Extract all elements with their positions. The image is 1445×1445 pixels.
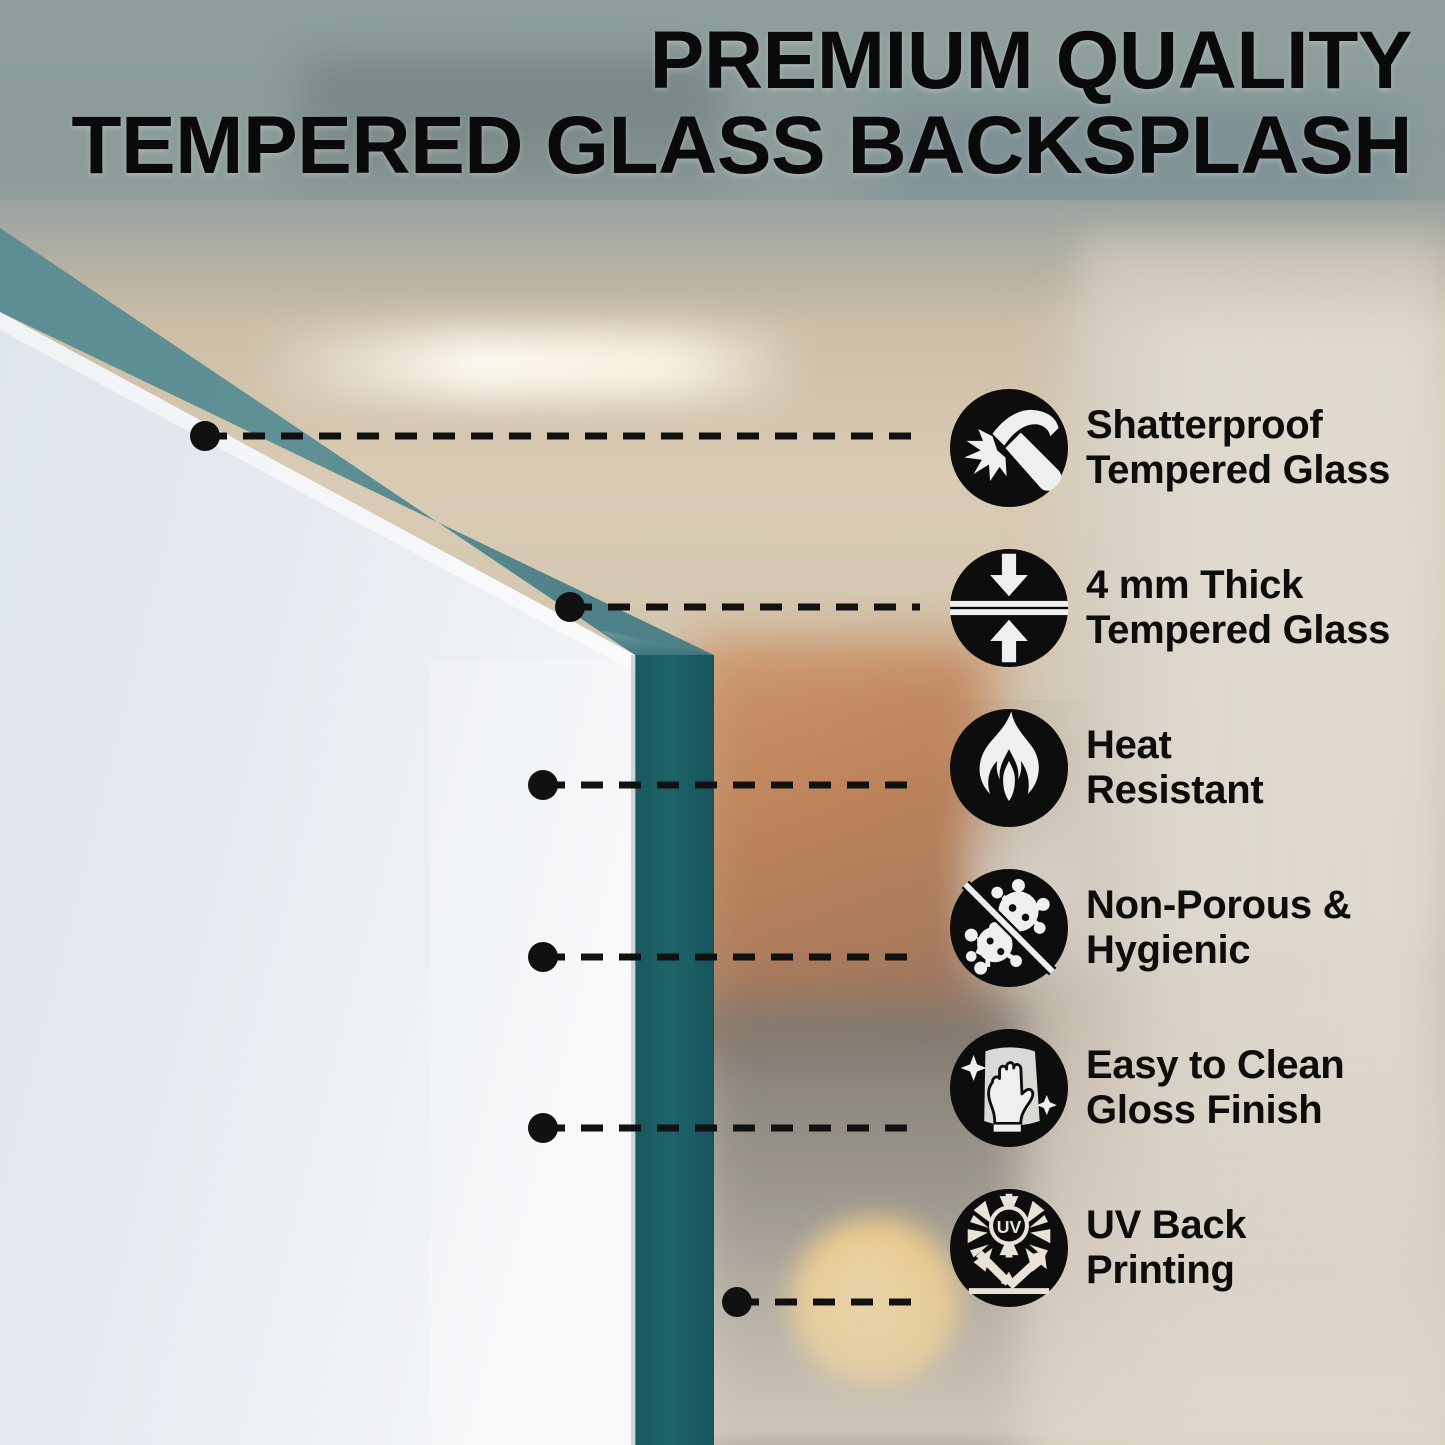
feature-label-heat: Heat Resistant [1086,723,1263,813]
feature-item-shatterproof: Shatterproof Tempered Glass [950,368,1420,528]
feature-list: Shatterproof Tempered Glass [950,368,1420,1328]
svg-text:UV: UV [997,1217,1022,1237]
feature-label-line1: UV Back [1086,1203,1246,1248]
feature-item-uv-printing: UV UV Back Printing [950,1168,1420,1328]
feature-label-line2: Printing [1086,1248,1246,1293]
feature-label-uv-printing: UV Back Printing [1086,1203,1246,1293]
glass-edge-seam [631,655,636,1445]
feature-label-line1: Shatterproof [1086,403,1390,448]
feature-item-heat: Heat Resistant [950,688,1420,848]
feature-label-thickness: 4 mm Thick Tempered Glass [1086,563,1390,653]
thickness-gauge-icon [950,549,1068,667]
feature-label-line2: Tempered Glass [1086,608,1390,653]
hand-wipe-cloth-icon [950,1029,1068,1147]
hammer-shatterproof-icon [950,389,1068,507]
glass-face-sheen [430,660,635,1445]
feature-label-line2: Gloss Finish [1086,1088,1344,1133]
glass-side-edge [635,655,714,1445]
headline: PREMIUM QUALITY TEMPERED GLASS BACKSPLAS… [0,18,1412,189]
feature-label-line2: Hygienic [1086,928,1351,973]
feature-label-line1: Heat [1086,723,1263,768]
headline-line-1: PREMIUM QUALITY [0,18,1412,103]
feature-label-line1: Non-Porous & [1086,883,1351,928]
feature-label-easy-clean: Easy to Clean Gloss Finish [1086,1043,1344,1133]
feature-item-hygienic: Non-Porous & Hygienic [950,848,1420,1008]
flame-icon [950,709,1068,827]
feature-label-shatterproof: Shatterproof Tempered Glass [1086,403,1390,493]
glass-panel [0,0,760,1445]
headline-line-2: TEMPERED GLASS BACKSPLASH [0,103,1412,188]
uv-sun-reflect-icon: UV [950,1189,1068,1307]
feature-item-easy-clean: Easy to Clean Gloss Finish [950,1008,1420,1168]
no-germs-icon [950,869,1068,987]
feature-label-line2: Tempered Glass [1086,448,1390,493]
feature-label-line2: Resistant [1086,768,1263,813]
feature-label-hygienic: Non-Porous & Hygienic [1086,883,1351,973]
feature-item-thickness: 4 mm Thick Tempered Glass [950,528,1420,688]
feature-label-line1: 4 mm Thick [1086,563,1390,608]
product-infographic: PREMIUM QUALITY TEMPERED GLASS BACKSPLAS… [0,0,1445,1445]
feature-label-line1: Easy to Clean [1086,1043,1344,1088]
